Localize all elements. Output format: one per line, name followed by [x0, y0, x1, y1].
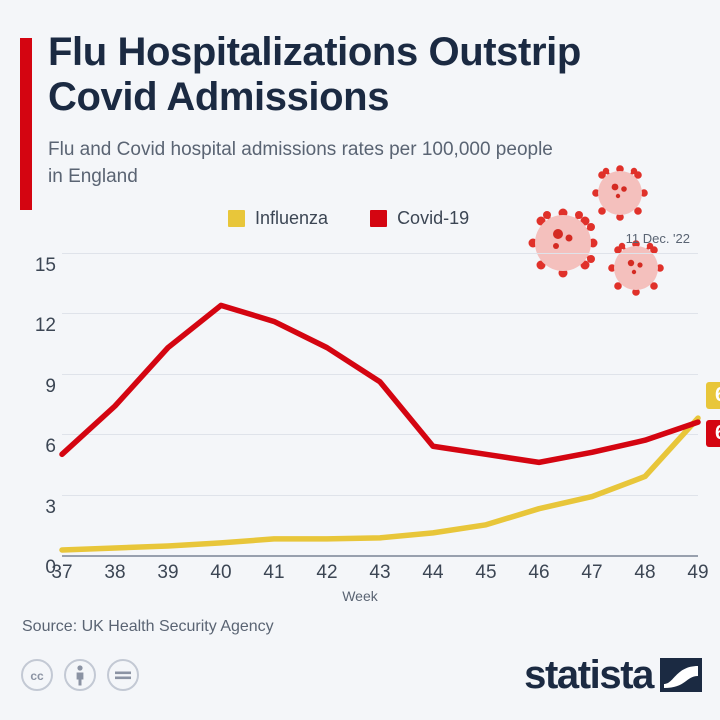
y-axis: 03691215: [0, 253, 56, 555]
cc-nd-icon[interactable]: [106, 658, 140, 697]
x-axis-tick-label: 37: [51, 562, 72, 584]
value-chip-influenza: 6.8: [706, 382, 720, 409]
series-lines: [62, 253, 698, 555]
plot-area: 11 Dec. '22: [62, 253, 698, 555]
x-axis-tick-label: 44: [422, 562, 443, 584]
statista-logo-text: statista: [524, 655, 653, 695]
x-axis-tick-label: 48: [634, 562, 655, 584]
legend-swatch-covid: [370, 210, 387, 227]
x-axis-tick-label: 41: [263, 562, 284, 584]
accent-bar: [20, 38, 32, 210]
x-axis-tick-label: 49: [687, 562, 708, 584]
creative-commons-icons: cc: [20, 658, 140, 697]
axis-line-zero: [62, 555, 698, 557]
virus-particle-top: [592, 165, 648, 221]
legend-label-covid: Covid-19: [397, 208, 469, 229]
x-axis-tick-label: 42: [316, 562, 337, 584]
x-axis-tick-label: 38: [104, 562, 125, 584]
y-axis-tick-label: 6: [10, 436, 56, 458]
series-line-influenza: [62, 418, 698, 550]
date-annotation: 11 Dec. '22: [626, 231, 690, 246]
y-axis-tick-label: 12: [10, 315, 56, 337]
statista-logo-mark: [660, 654, 702, 696]
infographic-card: Flu Hospitalizations Outstrip Covid Admi…: [0, 0, 720, 720]
statista-logo[interactable]: statista: [524, 654, 702, 696]
value-chip-covid: 6.6: [706, 420, 720, 447]
cc-by-icon[interactable]: [63, 658, 97, 697]
page-subtitle: Flu and Covid hospital admissions rates …: [48, 136, 568, 190]
x-axis-title: Week: [0, 588, 720, 604]
chart-legend: Influenza Covid-19: [228, 208, 469, 229]
legend-item-covid[interactable]: Covid-19: [370, 208, 469, 229]
y-axis-tick-label: 0: [10, 557, 56, 579]
y-axis-tick-label: 15: [10, 255, 56, 277]
series-line-covid-19: [62, 305, 698, 462]
legend-swatch-influenza: [228, 210, 245, 227]
y-axis-tick-label: 3: [10, 497, 56, 519]
svg-text:cc: cc: [30, 669, 44, 683]
source-note: Source: UK Health Security Agency: [22, 618, 274, 636]
x-axis-tick-label: 47: [581, 562, 602, 584]
x-axis-tick-label: 40: [210, 562, 231, 584]
y-axis-tick-label: 9: [10, 376, 56, 398]
x-axis-tick-label: 43: [369, 562, 390, 584]
x-axis-tick-label: 39: [157, 562, 178, 584]
line-chart: 03691215 11 Dec. '22 3738394041424344454…: [0, 240, 720, 570]
cc-icon[interactable]: cc: [20, 658, 54, 697]
x-axis-tick-label: 46: [528, 562, 549, 584]
legend-item-influenza[interactable]: Influenza: [228, 208, 328, 229]
page-title: Flu Hospitalizations Outstrip Covid Admi…: [48, 30, 688, 120]
x-axis-tick-label: 45: [475, 562, 496, 584]
legend-label-influenza: Influenza: [255, 208, 328, 229]
